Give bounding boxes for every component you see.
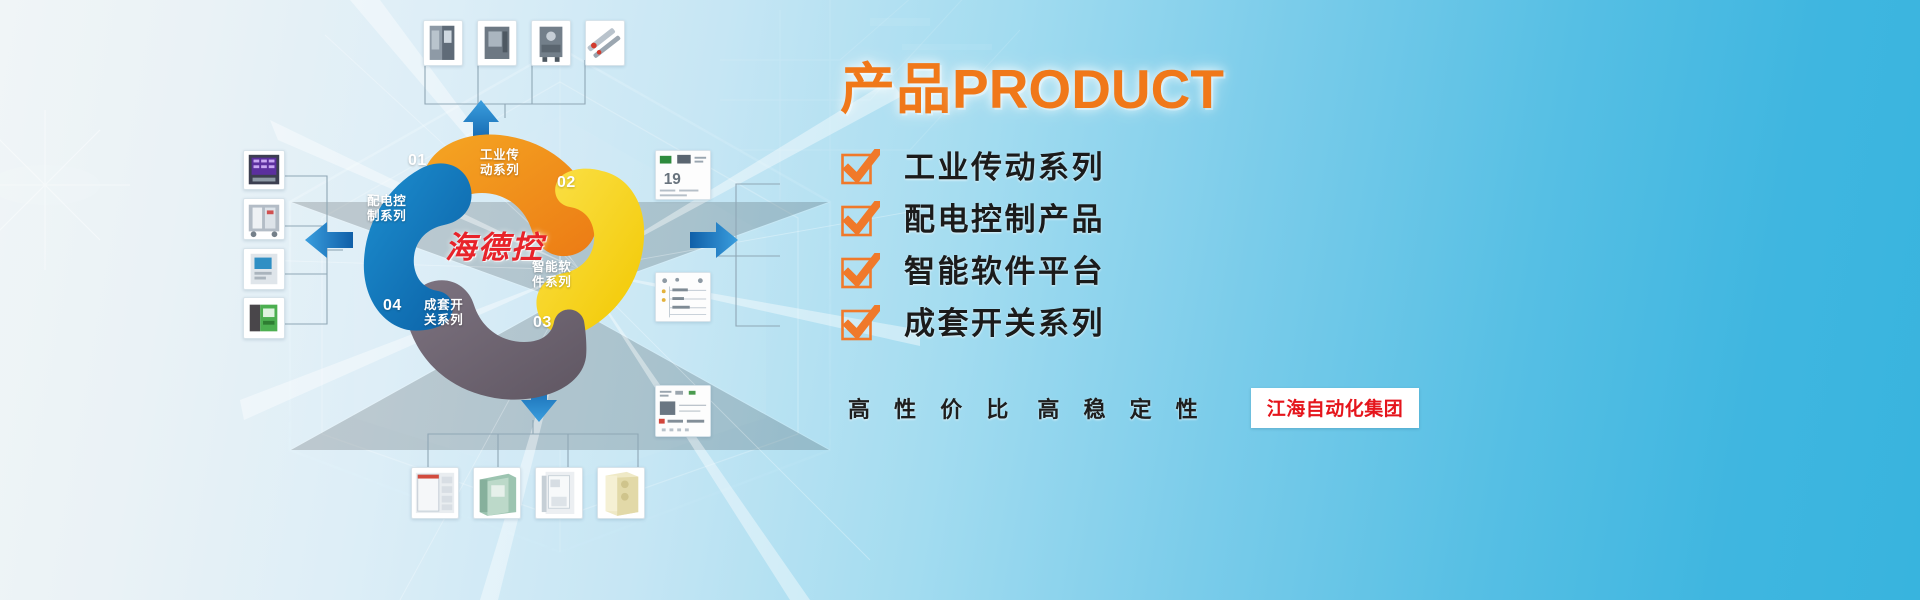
thumb-green-relay-module [243, 297, 285, 339]
thumb-control-module [243, 198, 285, 240]
brand-badge: 江海自动化集团 [1251, 388, 1420, 428]
cycle-label-02: 智能软 件系列 [532, 260, 571, 290]
thumb-hv-switchgear-cabinet [597, 467, 645, 519]
thumb-frequency-inverter [477, 20, 517, 66]
thumb-motor-shaft [585, 20, 625, 66]
headline-cn: 产品 [840, 58, 952, 120]
cycle-label-03: 成套开 关系列 [424, 298, 463, 328]
feature-item-3[interactable]: 智能软件平台 [840, 246, 1400, 298]
headline-en: PRODUCT [952, 58, 1224, 120]
thumb-servo-drive [423, 20, 463, 66]
tagline-2: 高 稳 定 性 [1037, 392, 1206, 424]
feature-item-2[interactable]: 配电控制产品 [840, 194, 1400, 246]
feature-label-4: 成套开关系列 [904, 305, 1105, 343]
checkbox-check-icon [840, 201, 880, 239]
promo-text-block: 产品PRODUCT 工业传动系列 配电控制产品 [840, 58, 1400, 428]
checkbox-check-icon [840, 253, 880, 291]
feature-label-1: 工业传动系列 [904, 149, 1105, 187]
checkbox-check-icon [840, 149, 880, 187]
feature-item-1[interactable]: 工业传动系列 [840, 142, 1400, 194]
thumb-soft-starter [531, 20, 571, 66]
connector-lines-bottom [418, 420, 648, 472]
thumb-distribution-cabinet [535, 467, 583, 519]
feature-item-4[interactable]: 成套开关系列 [840, 298, 1400, 350]
thumb-power-meter [243, 150, 285, 190]
feature-label-3: 智能软件平台 [904, 253, 1105, 291]
cycle-label-04: 配电控 制系列 [367, 194, 406, 224]
tagline-1: 高 性 价 比 [848, 392, 1017, 424]
checkbox-check-icon [840, 305, 880, 343]
product-banner: 19 [0, 0, 1920, 600]
thumb-lv-switchgear-cabinet [411, 467, 459, 519]
tagline-row: 高 性 价 比 高 稳 定 性 江海自动化集团 [848, 388, 1400, 428]
sparkle-icon [0, 110, 180, 310]
cycle-label-01: 工业传 动系列 [480, 148, 519, 178]
cycle-number-02: 02 [557, 174, 576, 192]
thumb-controller-unit [243, 248, 285, 290]
cycle-number-03: 03 [533, 314, 552, 332]
thumb-green-switchgear-cabinet [473, 467, 521, 519]
cycle-number-01: 01 [408, 152, 427, 170]
page-title: 产品PRODUCT [840, 58, 1400, 120]
feature-list: 工业传动系列 配电控制产品 智能软件平台 [840, 142, 1400, 350]
cycle-number-04: 04 [383, 297, 402, 315]
feature-label-2: 配电控制产品 [904, 201, 1105, 239]
cycle-center-label: 海德控 [445, 222, 544, 267]
